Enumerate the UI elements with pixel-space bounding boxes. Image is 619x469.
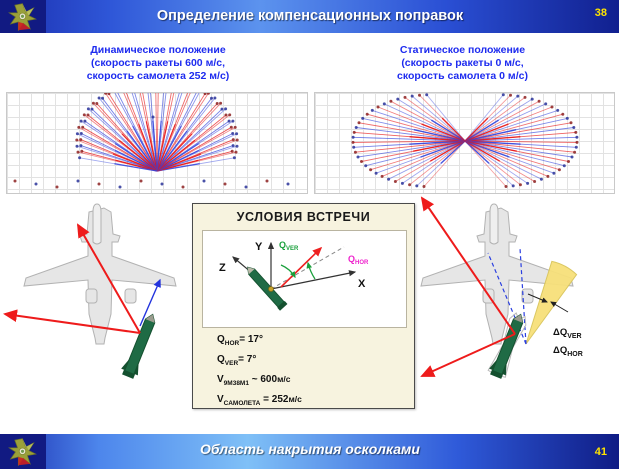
star-emblem-icon (8, 3, 37, 31)
coordinate-axes-svg: Y Z X QVER QHOR (203, 231, 406, 327)
param-value: 252 (272, 394, 289, 405)
param-subscript: САМОЛЕТА (224, 400, 261, 407)
param-symbol: V (217, 374, 224, 385)
spray-rays-dynamic (7, 93, 307, 193)
header-slide-number: 38 (595, 7, 607, 19)
page-title: Определение компенсационных поправок (90, 5, 530, 29)
encounter-conditions-box: УСЛОВИЯ ВСТРЕЧИ (192, 203, 415, 409)
delta-q-hor-symbol: ΔQ (553, 345, 567, 356)
caption-static-line2: (скорость ракеты 0 м/с, (320, 57, 605, 70)
param-row: VСАМОЛЕТА = 252м/с (217, 394, 407, 407)
star-emblem-icon (8, 438, 37, 466)
header-emblem-panel (0, 0, 46, 33)
param-subscript: HOR (225, 340, 239, 347)
caption-dynamic-line3: скорость самолета 252 м/с) (18, 70, 298, 83)
caption-dynamic: Динамическое положение (скорость ракеты … (18, 44, 298, 83)
missile-velocity-arrow (281, 248, 321, 287)
footer-title: Область накрытия осколками (90, 441, 530, 457)
slide-header: Определение компенсационных поправок 38 (0, 0, 619, 33)
param-unit: м/с (288, 394, 301, 404)
q-hor-arc (308, 263, 315, 279)
slide: Определение компенсационных поправок 38 … (0, 0, 619, 469)
footer-emblem-panel (0, 434, 46, 469)
caption-static-line3: скорость самолета 0 м/с) (320, 70, 605, 83)
param-subscript: VER (225, 360, 238, 367)
q-ver-label: QVER (279, 240, 299, 252)
encounter-parameters-list: QHOR= 17° QVER= 7° V9М38М1 ~ 600м/с VСАМ… (217, 334, 407, 414)
origin-marker (269, 287, 274, 292)
aircraft-missile-diagram-left (0, 196, 196, 411)
axes-diagram: Y Z X QVER QHOR (202, 230, 407, 328)
delta-q-hor-label: ΔQHOR (553, 345, 583, 358)
param-row: QHOR= 17° (217, 334, 407, 347)
param-row: QVER= 7° (217, 354, 407, 367)
inset-title: УСЛОВИЯ ВСТРЕЧИ (193, 210, 414, 224)
delta-q-ver-subscript: VER (567, 333, 581, 340)
q-hor-label: QHOR (348, 254, 369, 266)
fragment-spray-plot-dynamic (6, 92, 308, 194)
param-unit: м/с (277, 374, 290, 384)
spray-rays-static (315, 93, 614, 193)
param-symbol: Q (217, 354, 225, 365)
missile-body (119, 311, 161, 380)
axis-y-label: Y (255, 241, 263, 253)
reference-dashed-line (271, 247, 344, 289)
axis-x-label: X (358, 278, 366, 290)
delta-q-ver-label: ΔQVER (553, 327, 582, 340)
caption-dynamic-line2: (скорость ракеты 600 м/с, (18, 57, 298, 70)
caption-static: Статическое положение (скорость ракеты 0… (320, 44, 605, 83)
aircraft-missile-diagram-right (420, 196, 619, 411)
param-subscript: 9М38М1 (224, 380, 249, 387)
param-symbol: Q (217, 334, 225, 345)
delta-q-hor-subscript: HOR (567, 351, 583, 358)
encounter-geometry-right (420, 196, 619, 411)
param-relation: = (263, 394, 269, 405)
encounter-geometry-left (0, 196, 196, 411)
fragment-spray-plot-static (314, 92, 615, 194)
param-value: 600 (260, 374, 277, 385)
delta-q-ver-symbol: ΔQ (553, 327, 567, 338)
param-relation: = (239, 334, 245, 345)
param-relation: = (238, 354, 244, 365)
param-value: 17° (248, 334, 263, 345)
slide-footer: Область накрытия осколками 41 (0, 434, 619, 469)
velocity-arrow-red-2 (5, 314, 140, 333)
param-value: 7° (247, 354, 257, 365)
axis-z-label: Z (219, 262, 226, 274)
caption-dynamic-line1: Динамическое положение (18, 44, 298, 57)
param-symbol: V (217, 394, 224, 405)
caption-static-line1: Статическое положение (320, 44, 605, 57)
param-relation: ~ (252, 374, 258, 385)
param-row: V9М38М1 ~ 600м/с (217, 374, 407, 387)
footer-slide-number: 41 (595, 446, 607, 458)
